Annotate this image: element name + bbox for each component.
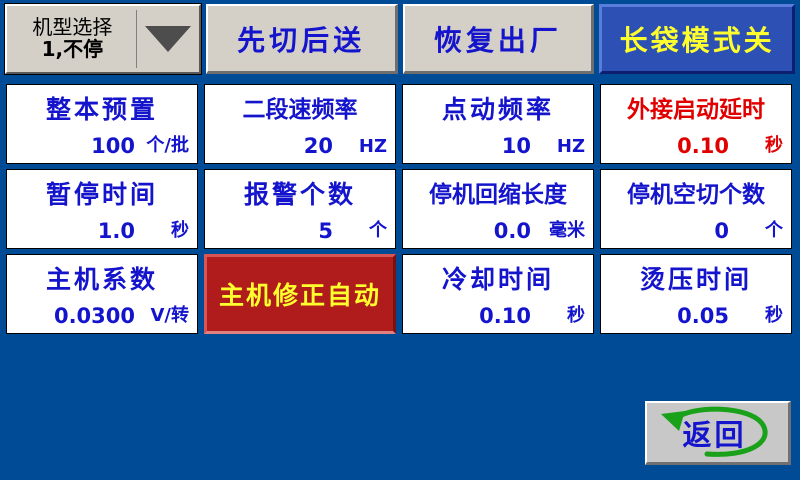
param-unit: 秒 [567, 301, 585, 327]
param-value: 0.10 [479, 304, 531, 328]
param-cell[interactable]: 外接启动延时 0.10 秒 [600, 84, 792, 164]
param-cell[interactable]: 暂停时间 1.0 秒 [6, 169, 198, 249]
chevron-down-glyph [145, 26, 191, 52]
param-label: 停机空切个数 [601, 175, 791, 209]
param-value: 0.05 [677, 304, 729, 328]
param-label: 报警个数 [205, 175, 395, 211]
param-label: 烫压时间 [601, 260, 791, 296]
param-unit: 秒 [765, 131, 783, 157]
long-bag-mode-button-label: 长袋模式关 [620, 19, 775, 59]
param-unit: V/转 [150, 301, 189, 327]
param-cell[interactable]: 二段速频率 20 HZ [204, 84, 396, 164]
factory-reset-button[interactable]: 恢复出厂 [403, 4, 595, 74]
param-unit: HZ [359, 136, 387, 157]
param-cell[interactable]: 停机空切个数 0 个 [600, 169, 792, 249]
mode-button-cut-then-feed[interactable]: 先切后送 [206, 4, 398, 74]
param-value: 0 [714, 219, 729, 243]
hmi-screen: 机型选择 1,不停 先切后送 恢复出厂 长袋模式关 整本预置 100 个/批 二… [0, 0, 800, 480]
factory-reset-button-label: 恢复出厂 [434, 19, 562, 59]
param-cell[interactable]: 烫压时间 0.05 秒 [600, 254, 792, 334]
param-unit: HZ [557, 136, 585, 157]
param-value: 0.10 [677, 134, 729, 158]
param-unit: 毫米 [549, 216, 585, 242]
param-label: 整本预置 [7, 90, 197, 126]
param-label: 主机系数 [7, 260, 197, 296]
param-label: 暂停时间 [7, 175, 197, 211]
param-cell[interactable]: 点动频率 10 HZ [402, 84, 594, 164]
param-value: 0.0300 [54, 304, 135, 328]
param-label: 停机回缩长度 [403, 175, 593, 209]
param-label: 点动频率 [403, 90, 593, 126]
param-cell[interactable]: 主机系数 0.0300 V/转 [6, 254, 198, 334]
param-value: 10 [502, 134, 531, 158]
param-value: 1.0 [98, 219, 135, 243]
back-button-label: 返回 [647, 412, 788, 454]
model-select-text: 机型选择 1,不停 [7, 6, 136, 72]
param-unit: 个/批 [146, 131, 189, 157]
param-cell[interactable]: 停机回缩长度 0.0 毫米 [402, 169, 594, 249]
model-select-title: 机型选择 [32, 17, 112, 39]
spindle-auto-correct-toggle[interactable]: 主机修正自动 [204, 254, 396, 334]
param-label: 冷却时间 [403, 260, 593, 296]
parameter-grid: 整本预置 100 个/批 二段速频率 20 HZ 点动频率 10 HZ 外接启动… [6, 84, 794, 334]
param-label: 外接启动延时 [601, 90, 791, 124]
chevron-down-icon[interactable] [137, 6, 199, 72]
param-cell[interactable]: 报警个数 5 个 [204, 169, 396, 249]
param-value: 20 [304, 134, 333, 158]
param-unit: 秒 [765, 301, 783, 327]
model-select-value: 1,不停 [42, 39, 104, 61]
param-value: 100 [91, 134, 135, 158]
param-unit: 个 [369, 216, 387, 242]
param-label: 二段速频率 [205, 90, 395, 124]
spindle-auto-correct-label: 主机修正自动 [219, 276, 381, 312]
param-unit: 个 [765, 216, 783, 242]
mode-button-cut-then-feed-label: 先切后送 [237, 19, 365, 59]
param-cell[interactable]: 整本预置 100 个/批 [6, 84, 198, 164]
top-toolbar: 机型选择 1,不停 先切后送 恢复出厂 长袋模式关 [5, 4, 795, 76]
long-bag-mode-button[interactable]: 长袋模式关 [599, 4, 795, 74]
param-value: 5 [318, 219, 333, 243]
back-button[interactable]: 返回 [645, 401, 791, 465]
param-unit: 秒 [171, 216, 189, 242]
param-value: 0.0 [494, 219, 531, 243]
param-cell[interactable]: 冷却时间 0.10 秒 [402, 254, 594, 334]
model-select-dropdown[interactable]: 机型选择 1,不停 [5, 4, 201, 74]
